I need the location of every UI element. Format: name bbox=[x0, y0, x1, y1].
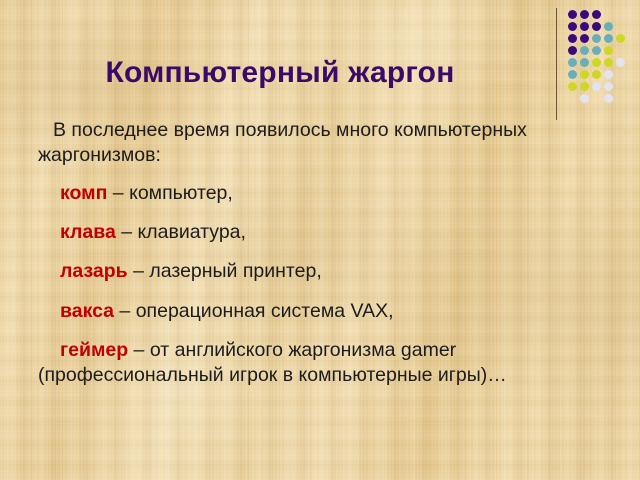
decorative-dot bbox=[604, 70, 613, 79]
decorative-dot bbox=[568, 10, 577, 19]
jargon-dash: – bbox=[107, 182, 129, 204]
decorative-dot bbox=[580, 70, 589, 79]
jargon-definition: клавиатура, bbox=[138, 221, 246, 243]
decorative-dot bbox=[580, 94, 589, 103]
decorative-dot bbox=[568, 22, 577, 31]
decorative-dot bbox=[568, 34, 577, 43]
jargon-term: вакса bbox=[60, 300, 114, 322]
slide-canvas: Компьютерный жаргон В последнее время по… bbox=[0, 0, 640, 480]
decorative-dot bbox=[592, 82, 601, 91]
decorative-dot bbox=[580, 34, 589, 43]
decorative-dot bbox=[616, 34, 625, 43]
decorative-dot bbox=[580, 46, 589, 55]
jargon-entry: вакса – операционная система VAX, bbox=[38, 299, 558, 324]
decorative-dot bbox=[580, 82, 589, 91]
decorative-dot bbox=[580, 58, 589, 67]
decorative-dot bbox=[568, 46, 577, 55]
jargon-dash: – bbox=[116, 221, 138, 243]
slide-body: В последнее время появилось много компью… bbox=[38, 118, 558, 389]
decorative-dot bbox=[604, 82, 613, 91]
jargon-term: комп bbox=[60, 182, 107, 204]
decorative-dot bbox=[580, 22, 589, 31]
decorative-dot-grid bbox=[568, 10, 628, 106]
jargon-entry: лазарь – лазерный принтер, bbox=[38, 259, 558, 284]
decorative-dot bbox=[568, 70, 577, 79]
decorative-dot bbox=[604, 34, 613, 43]
decorative-dot bbox=[604, 22, 613, 31]
decorative-dot bbox=[604, 94, 613, 103]
page-title: Компьютерный жаргон bbox=[0, 56, 560, 90]
intro-paragraph: В последнее время появилось много компью… bbox=[38, 118, 558, 169]
decorative-dot bbox=[592, 22, 601, 31]
decorative-dot bbox=[592, 10, 601, 19]
jargon-entry: геймер – от английского жаргонизма gamer… bbox=[38, 338, 558, 389]
decorative-dot bbox=[604, 46, 613, 55]
jargon-dash: – bbox=[114, 300, 136, 322]
jargon-term: клава bbox=[60, 221, 116, 243]
decorative-dot bbox=[592, 70, 601, 79]
jargon-entry: клава – клавиатура, bbox=[38, 220, 558, 245]
jargon-definition: лазерный принтер, bbox=[149, 260, 321, 282]
jargon-definition: операционная система VAX, bbox=[136, 300, 394, 322]
jargon-dash: – bbox=[128, 339, 150, 361]
decorative-vertical-rule bbox=[556, 8, 557, 120]
jargon-dash: – bbox=[128, 260, 150, 282]
decorative-dot bbox=[592, 58, 601, 67]
jargon-term: геймер bbox=[60, 339, 128, 361]
jargon-term: лазарь bbox=[60, 260, 128, 282]
decorative-dot bbox=[580, 10, 589, 19]
decorative-dot bbox=[604, 58, 613, 67]
decorative-dot bbox=[616, 58, 625, 67]
decorative-dot bbox=[592, 46, 601, 55]
decorative-dot bbox=[568, 82, 577, 91]
jargon-entry: комп – компьютер, bbox=[38, 181, 558, 206]
decorative-dot bbox=[568, 58, 577, 67]
decorative-dot bbox=[592, 34, 601, 43]
jargon-definition: компьютер, bbox=[129, 182, 233, 204]
